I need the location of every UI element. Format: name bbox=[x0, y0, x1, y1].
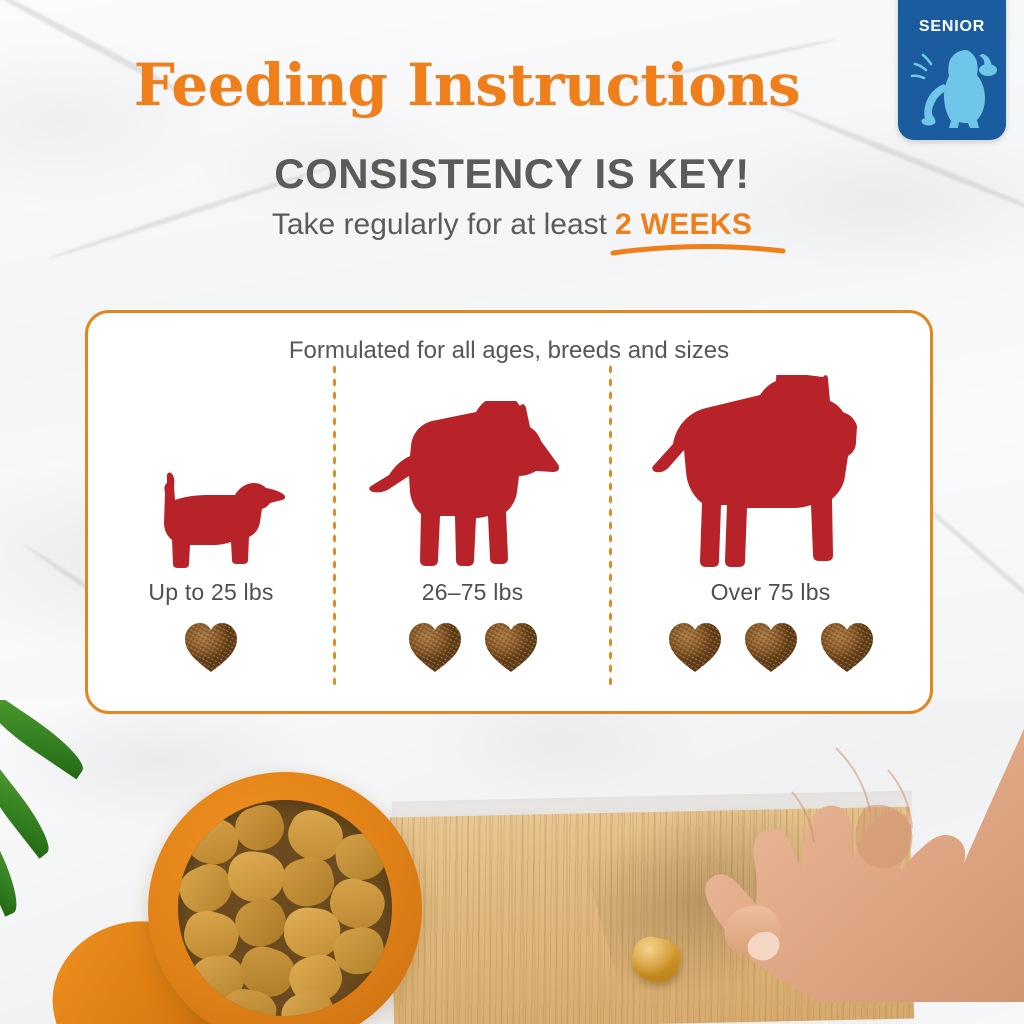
feeding-card: Formulated for all ages, breeds and size… bbox=[85, 310, 933, 714]
kibble-heart-icon bbox=[742, 620, 800, 674]
subtitle-consistency: CONSISTENCY IS KEY! bbox=[0, 150, 1024, 198]
small-dog-icon bbox=[135, 465, 287, 569]
size-label-medium: 26–75 lbs bbox=[422, 579, 524, 606]
senior-badge: SENIOR bbox=[898, 0, 1006, 140]
kibble-heart-icon bbox=[182, 620, 240, 674]
size-column-small: Up to 25 lbs bbox=[88, 375, 334, 713]
product-photo bbox=[0, 700, 1024, 1024]
kibble-row-medium bbox=[406, 620, 540, 674]
size-column-medium: 26–75 lbs bbox=[334, 375, 611, 713]
container-interior bbox=[178, 800, 392, 1016]
kibble-heart-icon bbox=[818, 620, 876, 674]
underline-swoosh-icon bbox=[609, 242, 787, 256]
large-dog-icon bbox=[651, 375, 891, 569]
sitting-dog-icon bbox=[904, 40, 1000, 134]
kibble-heart-icon bbox=[406, 620, 464, 674]
hand-holding-kibble bbox=[516, 700, 1024, 1010]
medium-dog-slot bbox=[368, 375, 578, 569]
kibble-row-large bbox=[666, 620, 876, 674]
headline-block: Feeding Instructions CONSISTENCY IS KEY!… bbox=[0, 0, 1024, 242]
size-label-large: Over 75 lbs bbox=[711, 579, 831, 606]
card-caption: Formulated for all ages, breeds and size… bbox=[88, 337, 930, 365]
size-columns: Up to 25 lbs bbox=[88, 375, 930, 713]
size-label-small: Up to 25 lbs bbox=[148, 579, 273, 606]
senior-badge-label: SENIOR bbox=[898, 18, 1006, 36]
instruction-prefix: Take regularly for at least bbox=[272, 208, 607, 241]
kibble-heart-icon bbox=[666, 620, 724, 674]
size-column-large: Over 75 lbs bbox=[611, 375, 930, 713]
page-title: Feeding Instructions bbox=[0, 56, 1024, 114]
kibble-heart-icon bbox=[482, 620, 540, 674]
instruction-row: Take regularly for at least2 WEEKS bbox=[0, 208, 1024, 242]
small-dog-slot bbox=[135, 375, 287, 569]
instruction-highlight: 2 WEEKS bbox=[615, 208, 752, 241]
kibble-row-small bbox=[182, 620, 240, 674]
large-dog-slot bbox=[651, 375, 891, 569]
medium-dog-icon bbox=[368, 401, 578, 569]
